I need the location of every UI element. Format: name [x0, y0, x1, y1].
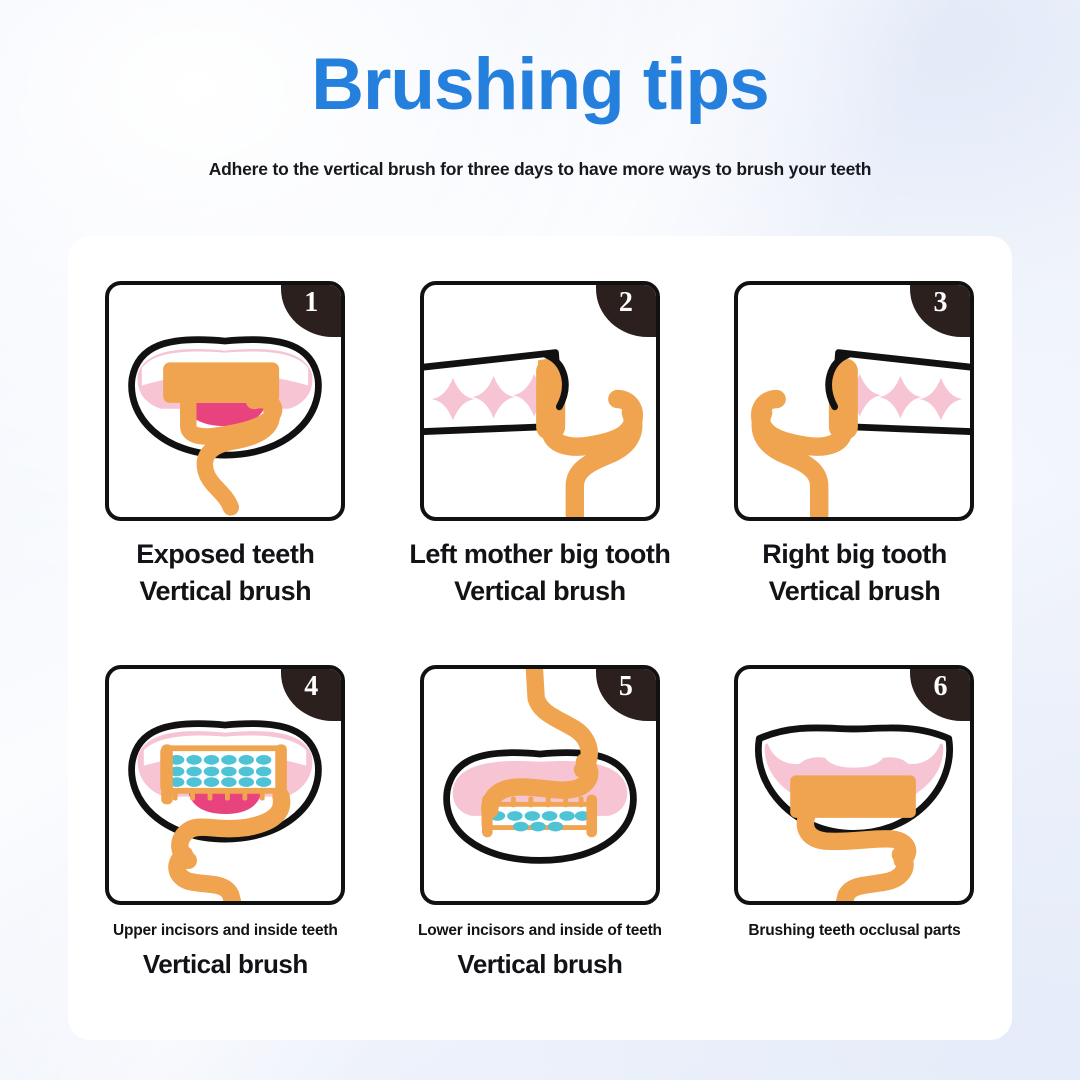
caption-primary-6: Brushing teeth occlusal parts: [697, 921, 1012, 941]
caption-secondary-2: Vertical brush: [383, 573, 698, 610]
page-title: Brushing tips: [0, 46, 1080, 125]
caption-5: Lower incisors and inside of teeth Verti…: [383, 921, 698, 983]
header: Brushing tips Adhere to the vertical bru…: [0, 0, 1080, 180]
caption-4: Upper incisors and inside teeth Vertical…: [68, 921, 383, 983]
caption-primary-1: Exposed teeth: [68, 536, 383, 573]
caption-6: Brushing teeth occlusal parts: [697, 921, 1012, 947]
panel-frame-1[interactable]: 1: [105, 281, 345, 521]
step-number-6: 6: [933, 671, 949, 701]
panel-frame-5[interactable]: 5: [420, 665, 660, 905]
caption-secondary-3: Vertical brush: [697, 573, 1012, 610]
tip-cell-3[interactable]: 3 Right big tooth Vertical brush: [697, 281, 1012, 611]
caption-primary-2: Left mother big tooth: [383, 536, 698, 573]
panel-frame-3[interactable]: 3: [734, 281, 974, 521]
step-number-3: 3: [933, 287, 949, 317]
tip-cell-2[interactable]: 2 Left mother big tooth Vertical brush: [383, 281, 698, 611]
tip-cell-6[interactable]: 6 Brushing teeth occlusal parts: [697, 665, 1012, 983]
tips-row-top: 1 Exposed teeth Vertical brush: [68, 281, 1012, 611]
step-number-1: 1: [304, 287, 320, 317]
tip-cell-4[interactable]: 4 Upper incisors and inside teeth Vertic…: [68, 665, 383, 983]
caption-secondary-1: Vertical brush: [68, 573, 383, 610]
caption-primary-5: Lower incisors and inside of teeth: [383, 921, 698, 941]
caption-primary-4: Upper incisors and inside teeth: [68, 921, 383, 941]
caption-secondary-5: Vertical brush: [383, 947, 698, 983]
caption-secondary-4: Vertical brush: [68, 947, 383, 983]
panel-frame-2[interactable]: 2: [420, 281, 660, 521]
caption-2: Left mother big tooth Vertical brush: [383, 536, 698, 611]
caption-3: Right big tooth Vertical brush: [697, 536, 1012, 611]
page-subtitle: Adhere to the vertical brush for three d…: [0, 159, 1080, 180]
caption-primary-3: Right big tooth: [697, 536, 1012, 573]
step-number-5: 5: [619, 671, 635, 701]
caption-1: Exposed teeth Vertical brush: [68, 536, 383, 611]
tip-cell-1[interactable]: 1 Exposed teeth Vertical brush: [68, 281, 383, 611]
tips-row-bottom: 4 Upper incisors and inside teeth Vertic…: [68, 665, 1012, 983]
step-number-2: 2: [619, 287, 635, 317]
tip-cell-5[interactable]: 5 Lower incisors and inside of teeth Ver…: [383, 665, 698, 983]
step-number-4: 4: [304, 671, 320, 701]
panel-frame-6[interactable]: 6: [734, 665, 974, 905]
panel-frame-4[interactable]: 4: [105, 665, 345, 905]
tips-card: 1 Exposed teeth Vertical brush: [68, 236, 1012, 1040]
